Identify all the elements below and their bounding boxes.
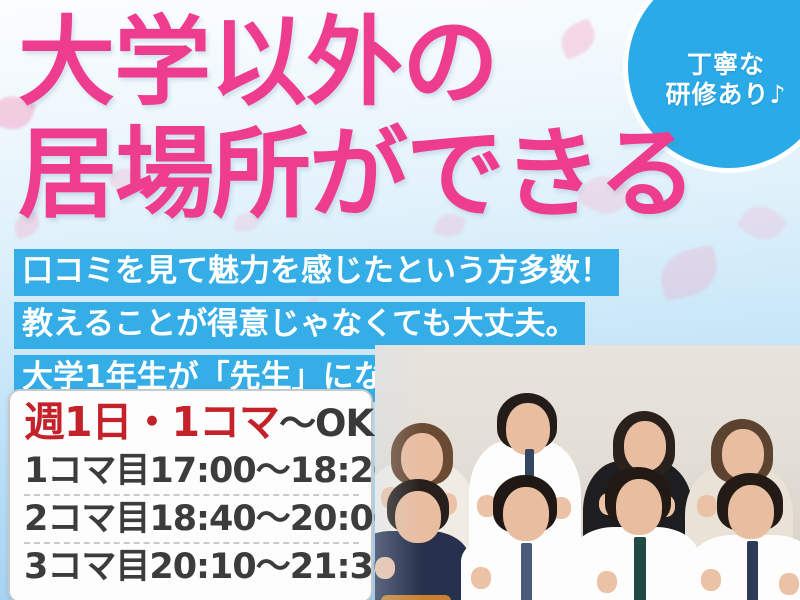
advertisement-banner: 丁寧な 研修あり♪ 大学以外の 居場所ができる 口コミを見て魅力を感じたという方… bbox=[0, 0, 800, 600]
headline-line-1: 大学以外の bbox=[18, 8, 748, 119]
highlight-band-1: 口コミを見て魅力を感じたという方多数！ bbox=[14, 249, 619, 296]
highlight-band-2: 教えることが得意じゃなくても大丈夫。 bbox=[14, 302, 585, 349]
schedule-card: 週1日・1コマ〜OK! 1コマ目17:00〜18:20 2コマ目18:40〜20… bbox=[8, 389, 373, 600]
schedule-row-1: 1コマ目17:00〜18:20 bbox=[24, 448, 359, 496]
schedule-heading-red: 週1日・1コマ bbox=[24, 398, 279, 446]
petal-icon bbox=[656, 244, 722, 301]
highlight-band-row: 口コミを見て魅力を感じたという方多数！ bbox=[14, 249, 619, 296]
highlight-band-row: 教えることが得意じゃなくても大丈夫。 bbox=[14, 302, 619, 349]
schedule-heading-dark: 〜OK! bbox=[279, 402, 389, 445]
headline-line-2: 居場所ができる bbox=[18, 119, 748, 232]
schedule-row-2: 2コマ目18:40〜20:00 bbox=[24, 496, 359, 544]
staff-group-photo bbox=[375, 345, 800, 600]
schedule-row-3: 3コマ目20:10〜21:30 bbox=[24, 544, 359, 590]
schedule-heading: 週1日・1コマ〜OK! bbox=[24, 400, 359, 446]
headline: 大学以外の 居場所ができる bbox=[18, 8, 748, 231]
